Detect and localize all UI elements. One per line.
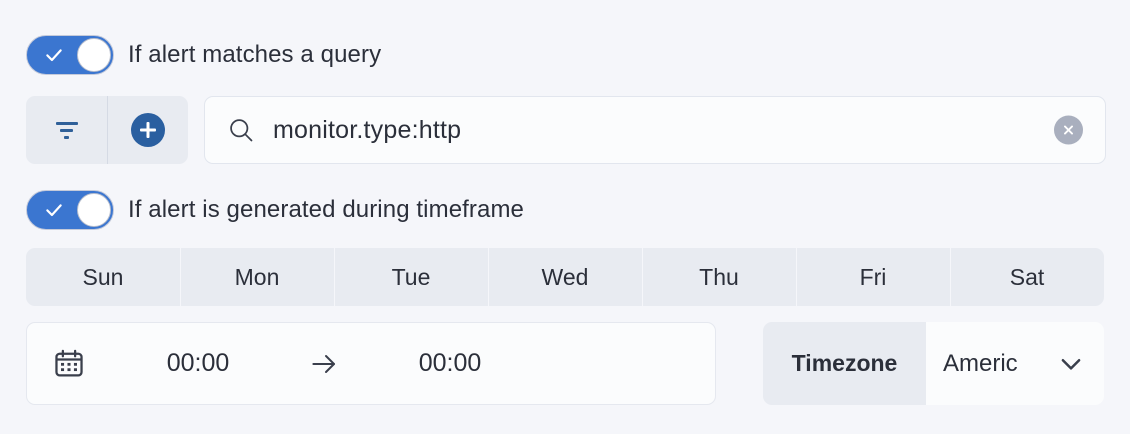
day-button-sun[interactable]: Sun	[26, 248, 180, 306]
day-button-wed[interactable]: Wed	[488, 248, 642, 306]
filter-button[interactable]	[26, 96, 107, 164]
toggle-knob	[77, 193, 111, 227]
time-range-start[interactable]: 00:00	[123, 349, 273, 378]
day-button-tue[interactable]: Tue	[334, 248, 488, 306]
alert-conditions-panel: If alert matches a query monitor.type:ht…	[0, 0, 1130, 434]
timezone-dropdown[interactable]: Americ	[926, 322, 1104, 405]
timeframe-toggle[interactable]	[26, 190, 114, 230]
arrow-right-icon	[309, 349, 339, 379]
timeframe-condition-label: If alert is generated during timeframe	[128, 196, 524, 224]
query-toggle[interactable]	[26, 35, 114, 75]
timeframe-condition-row: If alert is generated during timeframe	[26, 190, 524, 230]
timezone-selector: Timezone Americ	[763, 322, 1104, 405]
plus-circle-icon	[131, 113, 165, 147]
add-filter-button[interactable]	[107, 96, 188, 164]
filter-button-group	[26, 96, 188, 164]
day-button-sat[interactable]: Sat	[950, 248, 1104, 306]
close-icon	[1060, 122, 1077, 139]
day-button-thu[interactable]: Thu	[642, 248, 796, 306]
day-button-fri[interactable]: Fri	[796, 248, 950, 306]
check-icon	[44, 200, 64, 220]
filter-icon	[56, 122, 78, 139]
timezone-label: Timezone	[763, 322, 926, 405]
query-condition-row: If alert matches a query	[26, 35, 381, 75]
search-icon	[227, 116, 255, 144]
calendar-icon	[53, 348, 85, 380]
time-range-end[interactable]: 00:00	[375, 349, 525, 378]
day-of-week-selector: Sun Mon Tue Wed Thu Fri Sat	[26, 248, 1104, 306]
day-button-mon[interactable]: Mon	[180, 248, 334, 306]
query-search-field[interactable]: monitor.type:http	[204, 96, 1106, 164]
query-filter-bar: monitor.type:http	[26, 96, 1106, 164]
query-search-value: monitor.type:http	[273, 116, 461, 145]
query-condition-label: If alert matches a query	[128, 41, 381, 69]
timezone-value: Americ	[943, 350, 1018, 378]
toggle-knob	[77, 38, 111, 72]
chevron-down-icon	[1056, 349, 1086, 379]
check-icon	[44, 45, 64, 65]
time-range-field[interactable]: 00:00 00:00	[26, 322, 716, 405]
close-circle-icon[interactable]	[1054, 116, 1083, 145]
